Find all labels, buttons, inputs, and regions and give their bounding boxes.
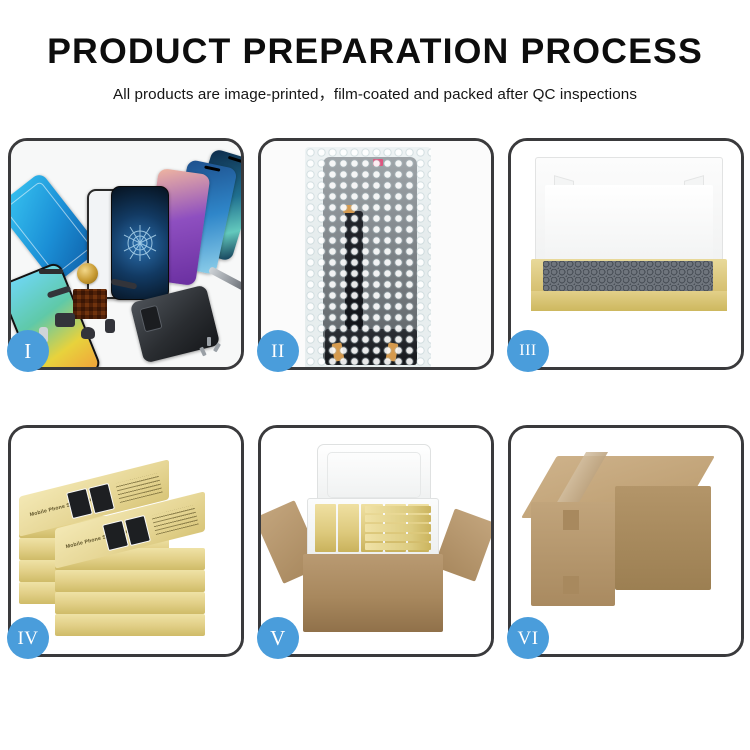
product-preparation-infographic: PRODUCT PREPARATION PROCESS All products… [0, 0, 750, 750]
retail-box [338, 504, 359, 552]
speaker-coil-part [77, 263, 98, 284]
foam-box-lid [317, 444, 431, 506]
process-step-panel-2: II [258, 138, 494, 370]
foam-liner [545, 185, 713, 263]
tray-front-panel [531, 291, 727, 311]
packed-retail-boxes-horizontal [365, 506, 431, 550]
process-step-panel-5: V [258, 425, 494, 657]
screwdriver-tool [208, 266, 241, 293]
step-1-image [11, 141, 241, 367]
earpiece-mesh-part [39, 269, 63, 274]
step-5-image [261, 428, 491, 654]
process-step-grid: I II [8, 138, 742, 657]
retail-box [365, 543, 431, 550]
retail-box [365, 534, 431, 541]
retail-box-stack: Mobile Phone Spare Parts Mobile Phone Sp… [17, 442, 241, 642]
process-step-panel-3: III [508, 138, 744, 370]
header: PRODUCT PREPARATION PROCESS All products… [0, 0, 750, 104]
retail-box [365, 506, 431, 513]
retail-box [365, 524, 431, 531]
page-title: PRODUCT PREPARATION PROCESS [0, 34, 750, 69]
vibrator-motor-part [81, 327, 95, 339]
screw-part [207, 337, 211, 346]
retail-box [55, 570, 205, 592]
step-4-image: Mobile Phone Spare Parts Mobile Phone Sp… [11, 428, 241, 654]
chip-array-part [73, 289, 107, 319]
carton-right-face [615, 486, 711, 590]
phone-notch [204, 165, 220, 171]
shipping-carton-open [303, 554, 443, 632]
step-badge-4: IV [7, 617, 49, 659]
retail-box [55, 614, 205, 636]
step-badge-1: I [7, 330, 49, 372]
battery-connector-part [105, 319, 115, 333]
retail-box [55, 592, 205, 614]
retail-box [315, 504, 336, 552]
step-badge-3: III [507, 330, 549, 372]
page-subtitle: All products are image-printed，film-coat… [0, 82, 750, 104]
camera-module-part [55, 313, 75, 327]
retail-box [365, 515, 431, 522]
step-3-image [511, 141, 741, 367]
bubble-wrap-bag [305, 147, 431, 367]
step-badge-5: V [257, 617, 299, 659]
step-badge-6: VI [507, 617, 549, 659]
phone-notch [228, 156, 241, 164]
process-step-panel-1: I [8, 138, 244, 370]
carton-seam-tab [563, 576, 579, 594]
process-step-panel-4: Mobile Phone Spare Parts Mobile Phone Sp… [8, 425, 244, 657]
crack-pattern-icon [118, 221, 162, 265]
carton-seam-tab [563, 510, 579, 530]
process-step-panel-6: VI [508, 425, 744, 657]
step-6-image [511, 428, 741, 654]
step-2-image [261, 141, 491, 367]
bubble-wrapped-product-in-tray [543, 261, 713, 291]
bubble-texture [305, 147, 431, 367]
step-badge-2: II [257, 330, 299, 372]
